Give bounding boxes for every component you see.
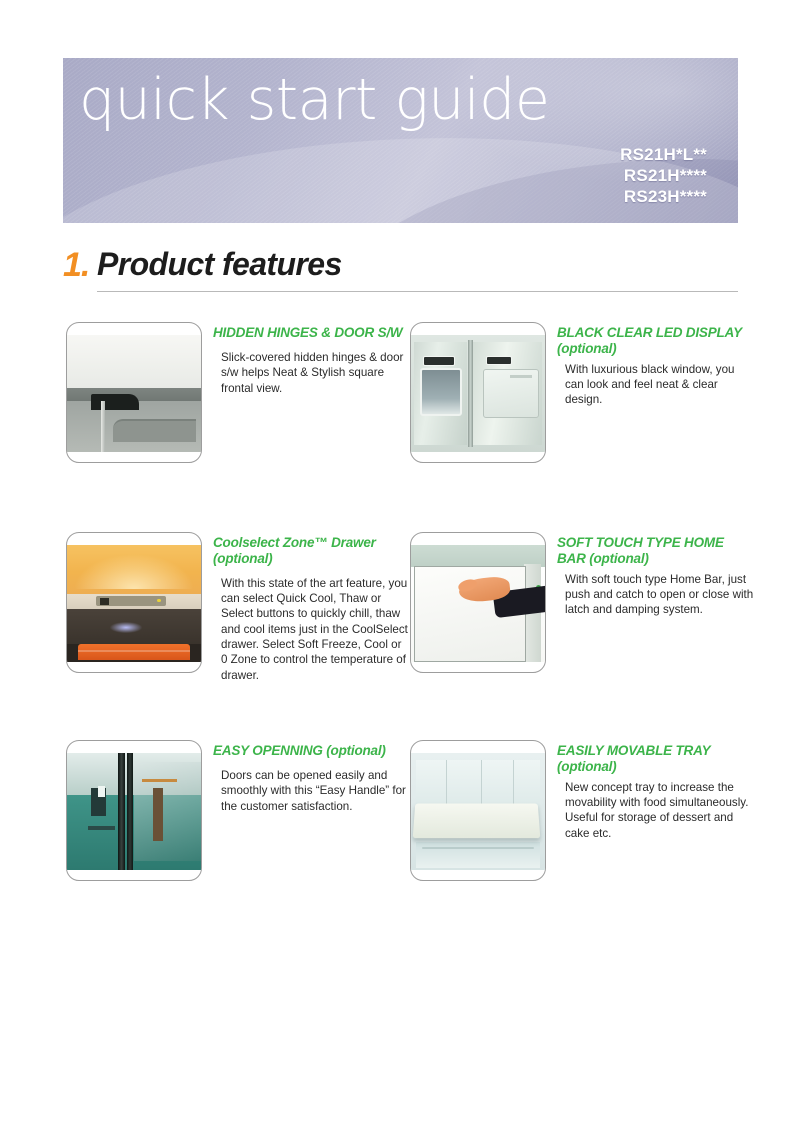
feature-body: With this state of the art feature, you …: [221, 576, 411, 683]
feature-body: With luxurious black window, you can loo…: [565, 362, 755, 408]
feature-body: With soft touch type Home Bar, just push…: [565, 572, 755, 618]
black-clear-led-display-photo: [410, 322, 546, 463]
hidden-hinges-photo: [66, 322, 202, 463]
feature-title: EASILY MOVABLE TRAY (optional): [557, 743, 755, 775]
feature-body: Doors can be opened easily and smoothly …: [221, 768, 411, 814]
photo-art: [411, 335, 545, 452]
feature-title: Coolselect Zone™ Drawer (optional): [213, 535, 411, 567]
photo-inner: [411, 335, 545, 452]
feature-text: SOFT TOUCH TYPE HOME BAR (optional) With…: [557, 535, 755, 618]
feature-body: Slick-covered hidden hinges & door s/w h…: [221, 350, 411, 396]
feature-title: HIDDEN HINGES & DOOR S/W: [213, 325, 411, 341]
photo-art: [411, 545, 545, 662]
feature-text: BLACK CLEAR LED DISPLAY (optional) With …: [557, 325, 755, 408]
feature-text: HIDDEN HINGES & DOOR S/W Slick-covered h…: [213, 325, 411, 396]
feature-text: EASY OPENNING (optional) Doors can be op…: [213, 743, 411, 814]
photo-inner: [411, 753, 545, 870]
photo-art: [411, 753, 545, 870]
feature-title: EASY OPENNING (optional): [213, 743, 411, 759]
photo-inner: [67, 545, 201, 662]
feature-title: SOFT TOUCH TYPE HOME BAR (optional): [557, 535, 755, 567]
photo-inner: [411, 545, 545, 662]
photo-inner: [67, 335, 201, 452]
feature-text: EASILY MOVABLE TRAY (optional) New conce…: [557, 743, 755, 841]
photo-inner: [67, 753, 201, 870]
easy-openning-photo: [66, 740, 202, 881]
feature-body: New concept tray to increase the movabil…: [565, 780, 755, 841]
coolselect-zone-drawer-photo: [66, 532, 202, 673]
feature-title: BLACK CLEAR LED DISPLAY (optional): [557, 325, 755, 357]
photo-art: [67, 335, 201, 452]
photo-art: [67, 545, 201, 662]
feature-text: Coolselect Zone™ Drawer (optional) With …: [213, 535, 411, 683]
easily-movable-tray-photo: [410, 740, 546, 881]
feature-grid: HIDDEN HINGES & DOOR S/W Slick-covered h…: [0, 0, 802, 1125]
soft-touch-home-bar-photo: [410, 532, 546, 673]
photo-art: [67, 753, 201, 870]
